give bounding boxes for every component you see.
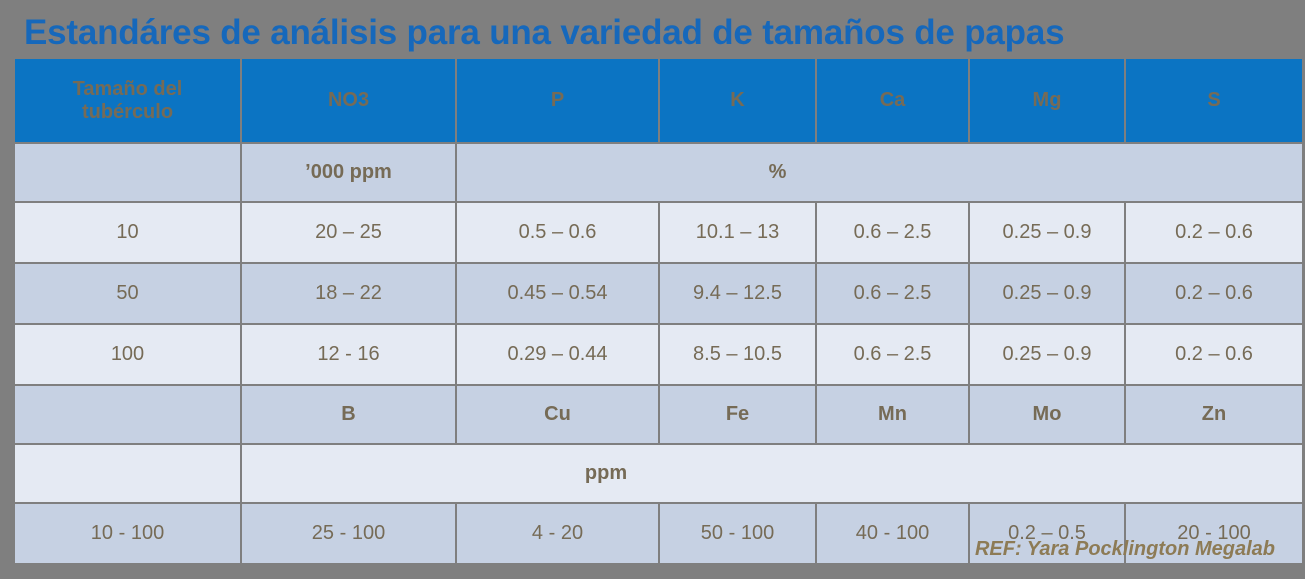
macro-units-percent: % (457, 144, 1302, 201)
cell-p: 0.45 – 0.54 (457, 264, 658, 323)
table-row: 100 12 - 16 0.29 – 0.44 8.5 – 10.5 0.6 –… (15, 325, 1302, 384)
column-header-p: P (457, 59, 658, 142)
micro-header-blank (15, 386, 240, 443)
column-header-line-1: Tamaño del (15, 78, 240, 101)
cell-s: 0.2 – 0.6 (1126, 325, 1302, 384)
column-header-s: S (1126, 59, 1302, 142)
nutrient-standards-table: Tamaño del tubérculo NO3 P K Ca Mg S ’00… (13, 57, 1304, 565)
column-header-ca: Ca (817, 59, 968, 142)
micro-header-fe: Fe (660, 386, 815, 443)
cell-b: 25 - 100 (242, 504, 455, 563)
cell-p: 0.29 – 0.44 (457, 325, 658, 384)
micro-header-mn: Mn (817, 386, 968, 443)
cell-ca: 0.6 – 2.5 (817, 203, 968, 262)
cell-p: 0.5 – 0.6 (457, 203, 658, 262)
micro-units-ppm: ppm (242, 445, 1302, 502)
column-header-tuber-size: Tamaño del tubérculo (15, 59, 240, 142)
cell-k: 9.4 – 12.5 (660, 264, 815, 323)
micro-header-cu: Cu (457, 386, 658, 443)
cell-mg: 0.25 – 0.9 (970, 264, 1124, 323)
cell-cu: 4 - 20 (457, 504, 658, 563)
cell-fe: 50 - 100 (660, 504, 815, 563)
table-header-row: Tamaño del tubérculo NO3 P K Ca Mg S (15, 59, 1302, 142)
cell-k: 10.1 – 13 (660, 203, 815, 262)
cell-s: 0.2 – 0.6 (1126, 203, 1302, 262)
micro-header-row: B Cu Fe Mn Mo Zn (15, 386, 1302, 443)
cell-ca: 0.6 – 2.5 (817, 264, 968, 323)
macro-units-row: ’000 ppm % (15, 144, 1302, 201)
micro-header-zn: Zn (1126, 386, 1302, 443)
column-header-k: K (660, 59, 815, 142)
cell-s: 0.2 – 0.6 (1126, 264, 1302, 323)
reference-note: REF: Yara Pocklington Megalab (975, 538, 1275, 561)
cell-size: 10 (15, 203, 240, 262)
cell-no3: 18 – 22 (242, 264, 455, 323)
macro-units-no3: ’000 ppm (242, 144, 455, 201)
micro-units-blank (15, 445, 240, 502)
cell-size: 100 (15, 325, 240, 384)
cell-mg: 0.25 – 0.9 (970, 325, 1124, 384)
table-row: 10 20 – 25 0.5 – 0.6 10.1 – 13 0.6 – 2.5… (15, 203, 1302, 262)
cell-size: 50 (15, 264, 240, 323)
table-row: 50 18 – 22 0.45 – 0.54 9.4 – 12.5 0.6 – … (15, 264, 1302, 323)
macro-units-blank (15, 144, 240, 201)
column-header-mg: Mg (970, 59, 1124, 142)
cell-k: 8.5 – 10.5 (660, 325, 815, 384)
cell-no3: 20 – 25 (242, 203, 455, 262)
micro-units-row: ppm (15, 445, 1302, 502)
column-header-no3: NO3 (242, 59, 455, 142)
column-header-line-2: tubérculo (15, 101, 240, 124)
slide: Estandáres de análisis para una variedad… (0, 0, 1305, 579)
cell-mg: 0.25 – 0.9 (970, 203, 1124, 262)
micro-header-mo: Mo (970, 386, 1124, 443)
cell-no3: 12 - 16 (242, 325, 455, 384)
page-title: Estandáres de análisis para una variedad… (24, 13, 1284, 53)
cell-size: 10 - 100 (15, 504, 240, 563)
cell-mn: 40 - 100 (817, 504, 968, 563)
micro-header-b: B (242, 386, 455, 443)
cell-ca: 0.6 – 2.5 (817, 325, 968, 384)
